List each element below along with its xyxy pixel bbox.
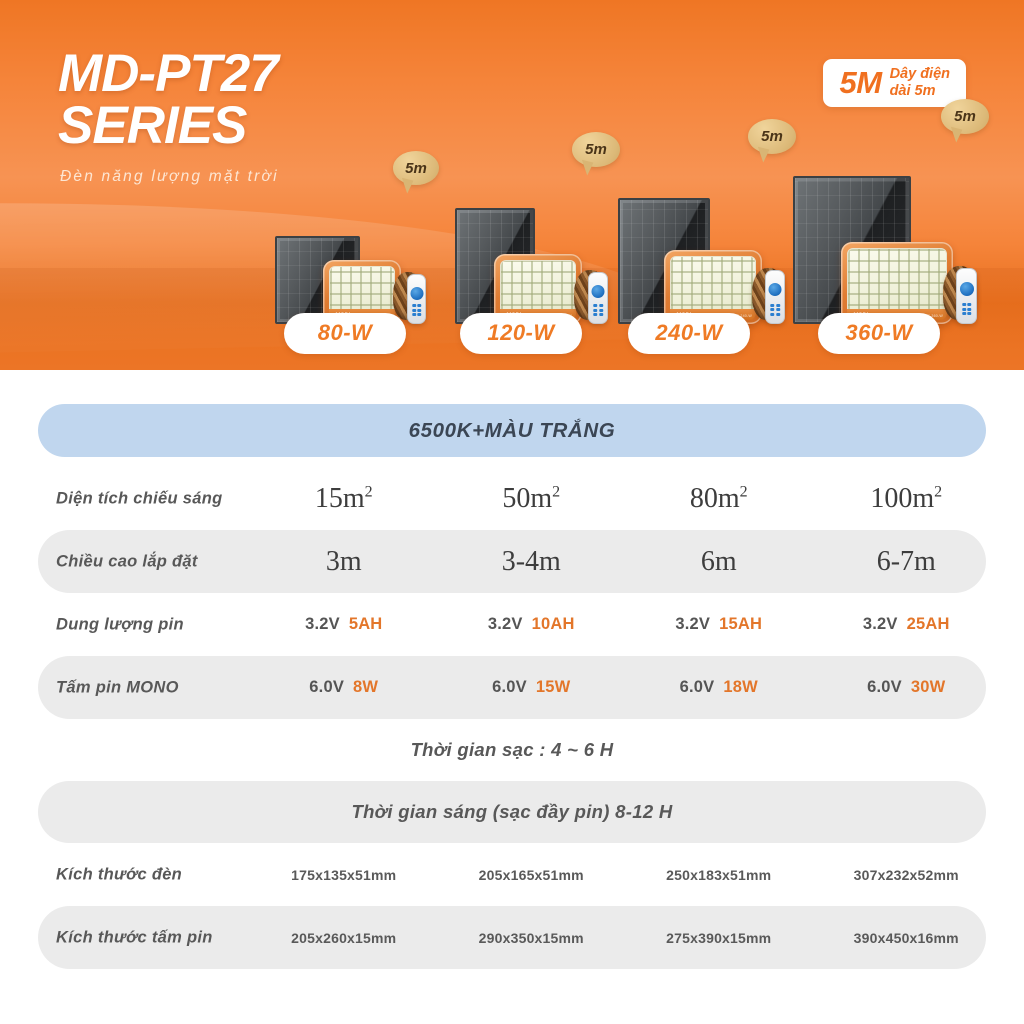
row-label: Tấm pin MONO bbox=[56, 678, 179, 697]
cable-length-caption: Dây điện dài 5m bbox=[890, 66, 950, 99]
remote-buttons bbox=[412, 304, 422, 316]
remote-control-image bbox=[407, 274, 426, 324]
cable-length-badge: 5M Dây điện dài 5m bbox=[823, 59, 966, 107]
table-cell: 6m bbox=[625, 530, 813, 593]
row-label: Chiều cao lắp đặt bbox=[56, 552, 198, 571]
table-row-install-height: Chiều cao lắp đặt 3m 3-4m 6m 6-7m bbox=[0, 530, 1024, 593]
voltage-240w: 6.0V bbox=[680, 678, 715, 697]
table-cell: 3.2V10AH bbox=[438, 593, 626, 656]
value-80w: 3m bbox=[326, 546, 362, 578]
value-240w: 80m2 bbox=[690, 483, 748, 515]
row-label: Dung lượng pin bbox=[56, 615, 184, 634]
remote-buttons bbox=[962, 303, 972, 315]
table-row-lamp-dimensions: Kích thước đèn 175x135x51mm 205x165x51mm… bbox=[0, 843, 1024, 906]
dimension-360w: 307x232x52mm bbox=[854, 867, 959, 883]
table-cell: 205x165x51mm bbox=[438, 843, 626, 906]
product-item-120w[interactable]: MODI MD-PT27-120-W 5m bbox=[450, 184, 630, 324]
value-120w: 50m2 bbox=[502, 483, 560, 515]
product-spec-infographic: MD-PT27 SERIES Đèn năng lượng mặt trời 5… bbox=[0, 0, 1024, 1024]
product-item-240w[interactable]: MODI MD-PT27-240-W 5m bbox=[618, 174, 803, 324]
capacity-80w: 5AH bbox=[349, 615, 383, 634]
dimension-80w: 205x260x15mm bbox=[291, 930, 396, 946]
table-cell: 390x450x16mm bbox=[813, 906, 1001, 969]
voltage-80w: 3.2V bbox=[305, 615, 340, 634]
table-row-lighting-area: Diện tích chiếu sáng 15m2 50m2 80m2 100m… bbox=[0, 467, 1024, 530]
dimension-240w: 250x183x51mm bbox=[666, 867, 771, 883]
remote-control-image bbox=[765, 270, 785, 324]
table-cell: 100m2 bbox=[813, 467, 1001, 530]
row-values: 3m 3-4m 6m 6-7m bbox=[250, 530, 1000, 593]
value-360w: 6-7m bbox=[877, 546, 936, 578]
remote-dial bbox=[410, 287, 423, 300]
table-cell: 3.2V5AH bbox=[250, 593, 438, 656]
wattage-badge-80w[interactable]: 80-W bbox=[284, 313, 406, 354]
row-values: 3.2V5AH 3.2V10AH 3.2V15AH 3.2V25AH bbox=[250, 593, 1000, 656]
spec-table-header-label: 6500K+MÀU TRẮNG bbox=[409, 419, 616, 443]
remote-control-image bbox=[956, 268, 977, 324]
page-title: MD-PT27 SERIES bbox=[58, 48, 278, 152]
table-cell: 275x390x15mm bbox=[625, 906, 813, 969]
wattage-badge-120w[interactable]: 120-W bbox=[460, 313, 582, 354]
table-row-light-time: Thời gian sáng (sạc đầy pin) 8-12 H bbox=[0, 781, 1024, 843]
cable-length-bubble: 5m bbox=[941, 99, 989, 134]
table-cell: 6.0V15W bbox=[438, 656, 626, 719]
row-values: 175x135x51mm 205x165x51mm 250x183x51mm 3… bbox=[250, 843, 1000, 906]
table-cell: 3-4m bbox=[438, 530, 626, 593]
dimension-120w: 205x165x51mm bbox=[479, 867, 584, 883]
table-cell: 175x135x51mm bbox=[250, 843, 438, 906]
table-cell: 6.0V18W bbox=[625, 656, 813, 719]
wattage-badge-240w[interactable]: 240-W bbox=[628, 313, 750, 354]
dimension-360w: 390x450x16mm bbox=[854, 930, 959, 946]
table-cell: 205x260x15mm bbox=[250, 906, 438, 969]
dimension-120w: 290x350x15mm bbox=[479, 930, 584, 946]
table-cell: 80m2 bbox=[625, 467, 813, 530]
value-360w: 100m2 bbox=[870, 483, 942, 515]
table-cell: 15m2 bbox=[250, 467, 438, 530]
led-face bbox=[847, 248, 947, 318]
row-values: 15m2 50m2 80m2 100m2 bbox=[250, 467, 1000, 530]
voltage-120w: 6.0V bbox=[492, 678, 527, 697]
power-360w: 30W bbox=[911, 678, 946, 697]
bubble-label: 5m bbox=[405, 160, 427, 177]
charge-time-label: Thời gian sạc : 4 ~ 6 H bbox=[411, 739, 614, 761]
led-floodlight-image: MODI MD-PT27-360-W bbox=[841, 242, 953, 324]
dimension-240w: 275x390x15mm bbox=[666, 930, 771, 946]
cable-length-bubble: 5m bbox=[393, 151, 439, 185]
table-cell: 50m2 bbox=[438, 467, 626, 530]
table-cell: 290x350x15mm bbox=[438, 906, 626, 969]
bubble-label: 5m bbox=[585, 141, 607, 158]
remote-dial bbox=[960, 282, 974, 296]
capacity-360w: 25AH bbox=[907, 615, 950, 634]
product-item-360w[interactable]: MODI MD-PT27-360-W 5m bbox=[793, 159, 988, 324]
dimension-80w: 175x135x51mm bbox=[291, 867, 396, 883]
remote-dial bbox=[769, 283, 782, 296]
value-120w: 3-4m bbox=[502, 546, 561, 578]
product-item-80w[interactable]: MODI MD-PT27-80-W 5m bbox=[275, 199, 450, 324]
bubble-label: 5m bbox=[954, 108, 976, 125]
table-cell: 6-7m bbox=[813, 530, 1001, 593]
row-label: Kích thước đèn bbox=[56, 865, 182, 884]
voltage-120w: 3.2V bbox=[488, 615, 523, 634]
capacity-240w: 15AH bbox=[719, 615, 762, 634]
spec-table: 6500K+MÀU TRẮNG Diện tích chiếu sáng 15m… bbox=[0, 380, 1024, 969]
table-row-battery-capacity: Dung lượng pin 3.2V5AH 3.2V10AH 3.2V15AH… bbox=[0, 593, 1024, 656]
bubble-label: 5m bbox=[761, 128, 783, 145]
table-cell: 3m bbox=[250, 530, 438, 593]
voltage-80w: 6.0V bbox=[309, 678, 344, 697]
table-cell: 307x232x52mm bbox=[813, 843, 1001, 906]
remote-control-image bbox=[588, 272, 608, 324]
row-values: 205x260x15mm 290x350x15mm 275x390x15mm 3… bbox=[250, 906, 1000, 969]
remote-dial bbox=[592, 285, 605, 298]
spec-table-header: 6500K+MÀU TRẮNG bbox=[38, 404, 986, 457]
voltage-360w: 3.2V bbox=[863, 615, 898, 634]
voltage-240w: 3.2V bbox=[675, 615, 710, 634]
row-label: Kích thước tấm pin bbox=[56, 928, 213, 947]
table-row-charge-time: Thời gian sạc : 4 ~ 6 H bbox=[0, 719, 1024, 781]
wattage-badge-360w[interactable]: 360-W bbox=[818, 313, 940, 354]
cable-length-bubble: 5m bbox=[748, 119, 796, 154]
remote-buttons bbox=[770, 304, 780, 316]
remote-buttons bbox=[593, 304, 603, 316]
row-label: Diện tích chiếu sáng bbox=[56, 489, 222, 508]
value-80w: 15m2 bbox=[315, 483, 373, 515]
power-80w: 8W bbox=[353, 678, 378, 697]
voltage-360w: 6.0V bbox=[867, 678, 902, 697]
value-240w: 6m bbox=[701, 546, 737, 578]
capacity-120w: 10AH bbox=[532, 615, 575, 634]
table-cell: 6.0V8W bbox=[250, 656, 438, 719]
light-time-label: Thời gian sáng (sạc đầy pin) 8-12 H bbox=[351, 801, 672, 823]
power-120w: 15W bbox=[536, 678, 571, 697]
table-cell: 250x183x51mm bbox=[625, 843, 813, 906]
hero-banner: MD-PT27 SERIES Đèn năng lượng mặt trời 5… bbox=[0, 0, 1024, 370]
table-row-mono-panel: Tấm pin MONO 6.0V8W 6.0V15W 6.0V18W 6.0V… bbox=[0, 656, 1024, 719]
row-values: 6.0V8W 6.0V15W 6.0V18W 6.0V30W bbox=[250, 656, 1000, 719]
table-cell: 3.2V25AH bbox=[813, 593, 1001, 656]
table-cell: 3.2V15AH bbox=[625, 593, 813, 656]
table-cell: 6.0V30W bbox=[813, 656, 1001, 719]
cable-length-bubble: 5m bbox=[572, 132, 620, 167]
table-row-panel-dimensions: Kích thước tấm pin 205x260x15mm 290x350x… bbox=[0, 906, 1024, 969]
power-240w: 18W bbox=[723, 678, 758, 697]
cable-length-value: 5M bbox=[839, 68, 881, 98]
